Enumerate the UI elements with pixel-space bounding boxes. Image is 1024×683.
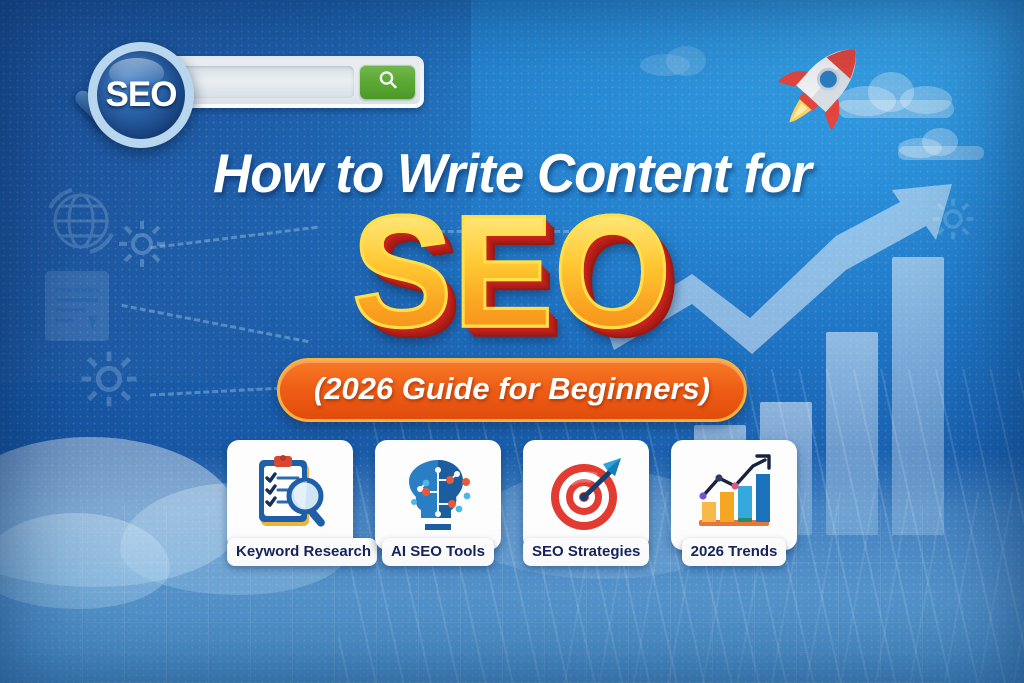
magnifier-label: SEO [106, 75, 177, 115]
seo-hero-banner: SEO How to Write Content for SEO SEO (20… [0, 0, 1024, 683]
seo-magnifier-badge: SEO [88, 42, 194, 148]
